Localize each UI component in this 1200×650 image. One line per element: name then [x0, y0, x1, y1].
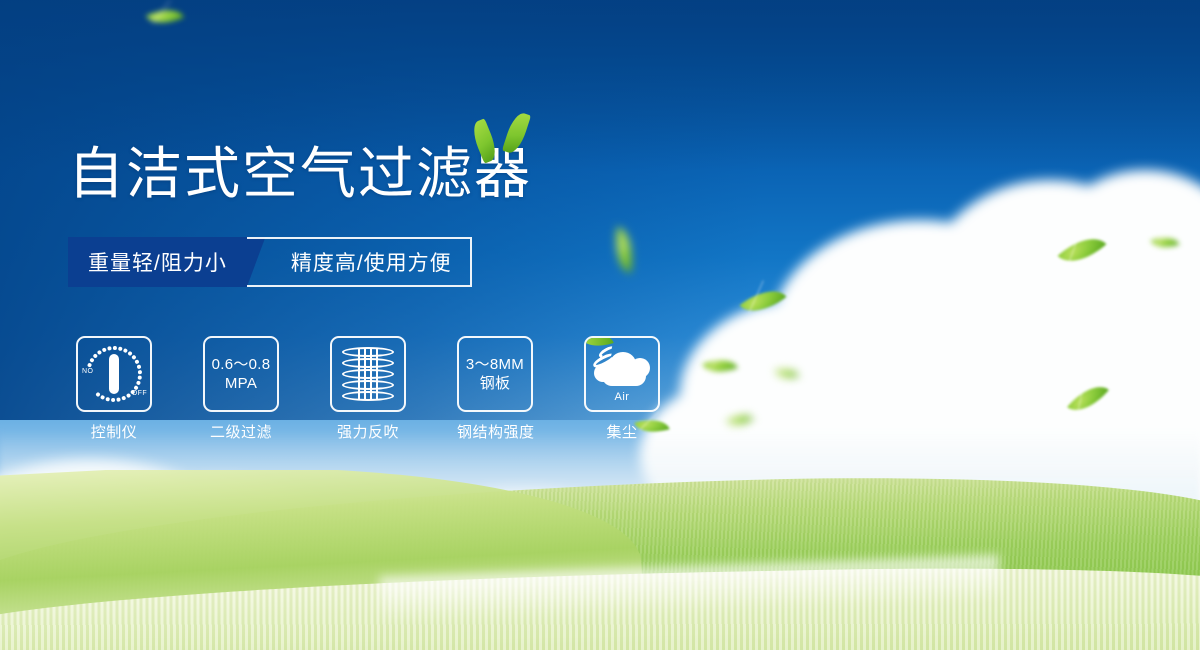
- gauge-label-off: OFF: [132, 390, 147, 397]
- feature-icon-box: 3～8MM 钢板: [457, 336, 533, 412]
- banner-stage: 自洁式空气过滤器 重量轻/阻力小 精度高/使用方便: [0, 0, 1200, 650]
- steel-line-2: 钢板: [466, 374, 524, 393]
- steel-plate-text-icon: 3～8MM 钢板: [466, 355, 524, 393]
- feature-icon-box: Air: [584, 336, 660, 412]
- pressure-line-2: MPA: [212, 374, 271, 393]
- badge-primary[interactable]: 重量轻/阻力小: [68, 237, 247, 287]
- feature-label: 钢结构强度: [457, 421, 533, 442]
- feature-icon-box: 0.6～0.8 MPA: [203, 336, 279, 412]
- feature-icon-row: NO OFF 控制仪 0.6～0.8 MPA 二级过滤: [76, 336, 660, 442]
- sprout-leaf-right: [502, 110, 531, 155]
- badge-row: 重量轻/阻力小 精度高/使用方便: [68, 237, 472, 287]
- feature-icon-box: [330, 336, 406, 412]
- badge-secondary[interactable]: 精度高/使用方便: [277, 237, 472, 287]
- steel-line-1: 3～8MM: [466, 355, 524, 374]
- air-label: Air: [590, 391, 654, 403]
- sprout-leaf-left: [469, 118, 500, 163]
- sprout-leaves-icon: [474, 108, 534, 160]
- pressure-text-icon: 0.6～0.8 MPA: [212, 355, 271, 393]
- feature-icon-box: NO OFF: [76, 336, 152, 412]
- page-title: 自洁式空气过滤器: [68, 143, 532, 205]
- gauge-label-no: NO: [82, 368, 93, 375]
- feature-item-controller[interactable]: NO OFF 控制仪: [76, 336, 152, 442]
- filter-coil-icon: [342, 345, 394, 403]
- feature-label: 控制仪: [76, 421, 152, 442]
- pressure-line-1: 0.6～0.8: [212, 355, 271, 374]
- feature-item-pressure[interactable]: 0.6～0.8 MPA 二级过滤: [203, 336, 279, 442]
- feature-item-steel[interactable]: 3～8MM 钢板 钢结构强度: [457, 336, 533, 442]
- feature-label: 强力反吹: [330, 421, 406, 442]
- grass-field: [0, 470, 1200, 650]
- air-cloud-icon: Air: [590, 346, 654, 402]
- feature-label: 二级过滤: [203, 421, 279, 442]
- gauge-icon: NO OFF: [83, 345, 145, 403]
- feature-item-blowback[interactable]: 强力反吹: [330, 336, 406, 442]
- gauge-needle: [109, 354, 119, 394]
